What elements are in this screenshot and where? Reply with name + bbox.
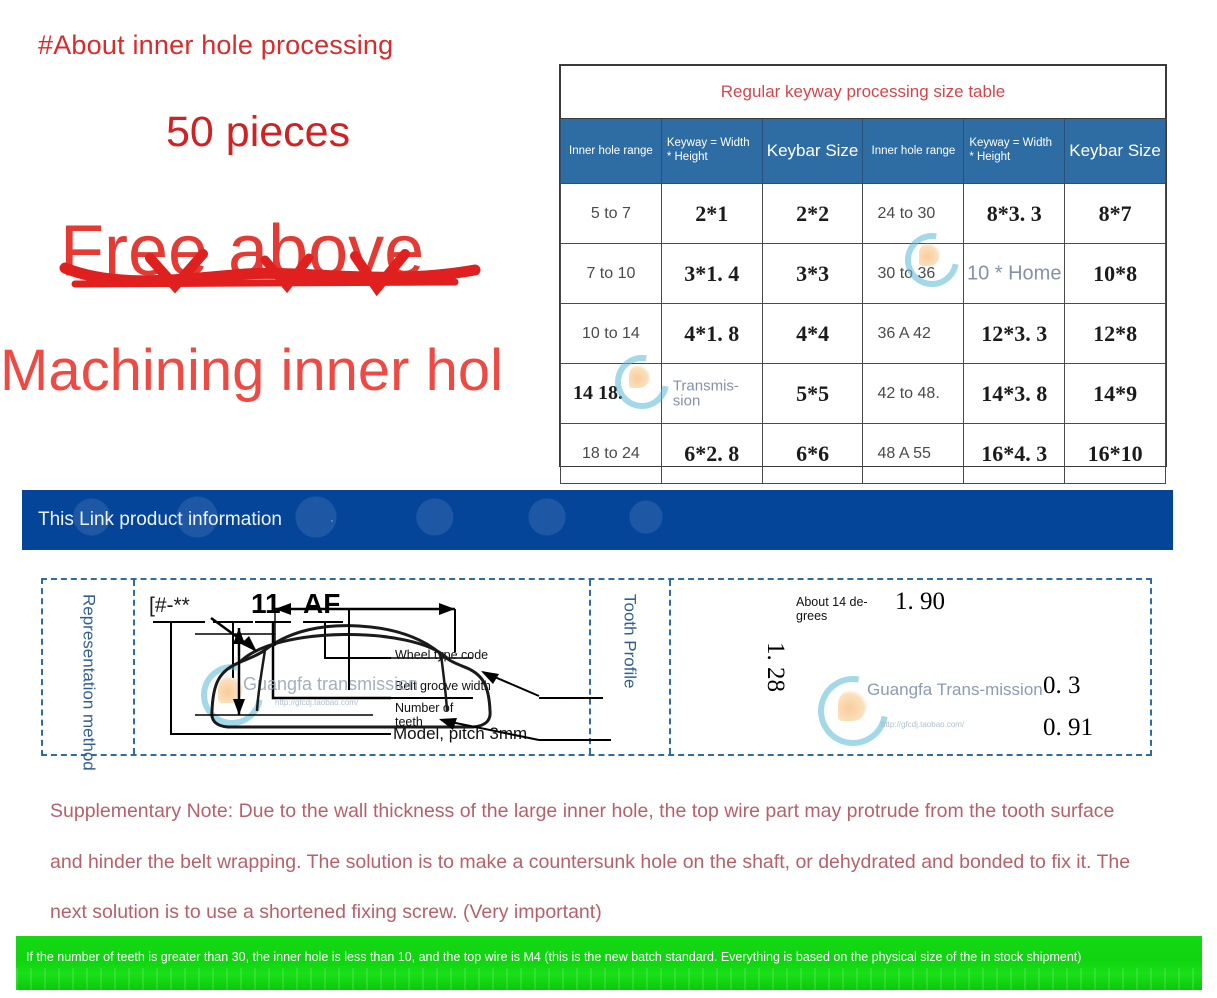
product-detail-page: #About inner hole processing 50 pieces F… <box>0 0 1217 998</box>
cell-hole-range: 36 A 42 <box>863 304 964 364</box>
header-keyway-right: Keyway = Width * Height <box>964 119 1065 184</box>
cell-hole-range: 30 to 36 <box>863 244 964 304</box>
specification-panel: Representation method [#-** 11 AF Wh <box>41 578 1152 756</box>
cell-keyway: 4*1. 8 <box>661 304 762 364</box>
cell-keybar: 16*10 <box>1065 424 1166 484</box>
banner-texture <box>16 968 1202 990</box>
table-title-row: Regular keyway processing size table <box>561 66 1166 119</box>
stock-standard-banner: If the number of teeth is greater than 3… <box>16 936 1202 990</box>
header-keybar-size-right: Keybar Size <box>1065 119 1166 184</box>
cell-keyway: 3*1. 4 <box>661 244 762 304</box>
stock-standard-text: If the number of teeth is greater than 3… <box>26 948 1198 967</box>
cell-hole-range: 24 to 30 <box>863 184 964 244</box>
cell-hole-range: 14 18. <box>561 364 662 424</box>
header-inner-hole-range-left: Inner hole range <box>561 119 662 184</box>
promo-heading: #About inner hole processing <box>38 30 393 61</box>
dimension-radius-2: 0. 91 <box>1043 714 1093 742</box>
table-header-row: Inner hole range Keyway = Width * Height… <box>561 119 1166 184</box>
table-row: 14 18. Transmis- sion 5*5 42 to 48. 14*3… <box>561 364 1166 424</box>
promo-block: #About inner hole processing 50 pieces F… <box>0 0 610 470</box>
cell-keybar: 4*4 <box>762 304 863 364</box>
dimension-width: 1. 90 <box>895 588 945 616</box>
promo-quantity: 50 pieces <box>166 108 350 157</box>
cell-keybar: 14*9 <box>1065 364 1166 424</box>
cell-keyway: 16*4. 3 <box>964 424 1065 484</box>
cell-hole-range: 5 to 7 <box>561 184 662 244</box>
cell-hole-range: 42 to 48. <box>863 364 964 424</box>
cell-hole-range: 18 to 24 <box>561 424 662 484</box>
dimension-radius-1: 0. 3 <box>1043 672 1081 700</box>
dimension-height: 1. 28 <box>761 642 789 692</box>
cell-keyway-watermarked: Transmis- sion <box>661 364 762 424</box>
table-row: 10 to 14 4*1. 8 4*4 36 A 42 12*3. 3 12*8 <box>561 304 1166 364</box>
link-product-information-banner[interactable]: This Link product information · <box>22 490 1173 550</box>
cell-hole-range: 48 A 55 <box>863 424 964 484</box>
tooth-profile-drawing: About 14 de-grees 1. 90 1. 28 0. 3 0. 91… <box>43 580 1150 754</box>
cell-keyway-watermarked: 10 * Home <box>964 244 1065 304</box>
cell-keybar: 10*8 <box>1065 244 1166 304</box>
table-row: 18 to 24 6*2. 8 6*6 48 A 55 16*4. 3 16*1… <box>561 424 1166 484</box>
supplementary-note: Supplementary Note: Due to the wall thic… <box>50 786 1140 938</box>
cell-keyway: 8*3. 3 <box>964 184 1065 244</box>
watermark-text: Transmis- sion <box>673 378 739 410</box>
table-row: 7 to 10 3*1. 4 3*3 30 to 36 10 * Home 10… <box>561 244 1166 304</box>
watermark-text: 10 * Home <box>967 262 1062 285</box>
header-inner-hole-range-right: Inner hole range <box>863 119 964 184</box>
cell-keybar: 2*2 <box>762 184 863 244</box>
cell-hole-range: 10 to 14 <box>561 304 662 364</box>
table-row: 5 to 7 2*1 2*2 24 to 30 8*3. 3 8*7 <box>561 184 1166 244</box>
promo-free-text: Free above <box>60 215 424 287</box>
cell-keybar: 3*3 <box>762 244 863 304</box>
banner-dot: · <box>330 513 334 527</box>
cell-keyway: 6*2. 8 <box>661 424 762 484</box>
promo-machining-text: Machining inner hol <box>0 342 503 400</box>
keyway-size-table: Regular keyway processing size table Inn… <box>559 64 1167 467</box>
header-keybar-size-left: Keybar Size <box>762 119 863 184</box>
angle-note: About 14 de-grees <box>796 596 870 624</box>
table-title: Regular keyway processing size table <box>561 66 1166 119</box>
cell-keybar: 12*8 <box>1065 304 1166 364</box>
cell-keybar: 6*6 <box>762 424 863 484</box>
header-keyway-left: Keyway = Width * Height <box>661 119 762 184</box>
cell-keybar: 5*5 <box>762 364 863 424</box>
cell-keybar: 8*7 <box>1065 184 1166 244</box>
cell-keyway: 2*1 <box>661 184 762 244</box>
cell-keyway: 14*3. 8 <box>964 364 1065 424</box>
banner-label: This Link product information <box>38 509 282 531</box>
cell-keyway: 12*3. 3 <box>964 304 1065 364</box>
cell-hole-range: 7 to 10 <box>561 244 662 304</box>
